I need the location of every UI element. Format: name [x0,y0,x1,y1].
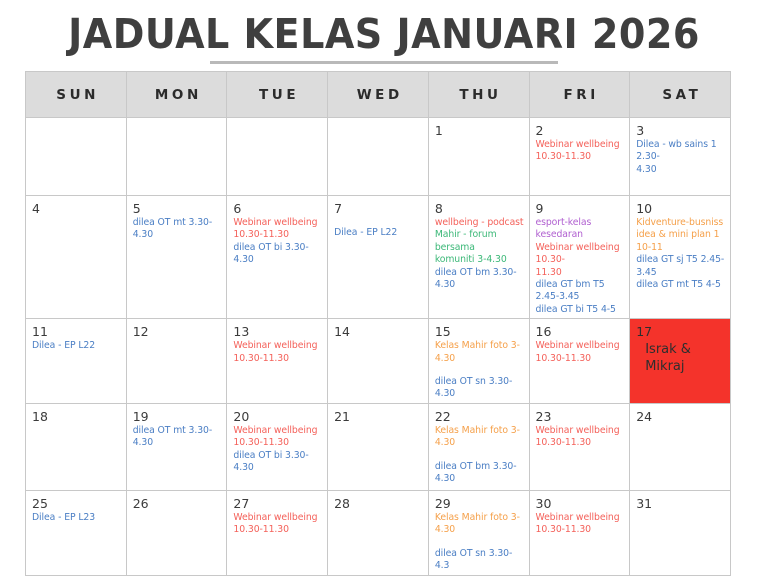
calendar-event[interactable]: dilea OT sn 3.30-4.30 [435,376,525,401]
day-cell-content: 25Dilea - EP L23 [26,491,126,575]
calendar-table: SUNMONTUEWEDTHUFRISAT 12Webinar wellbein… [25,71,731,576]
calendar-day-cell-20[interactable]: 20Webinar wellbeing 10.30-11.30dilea OT … [227,403,328,490]
day-cell-content: 19dilea OT mt 3.30-4.30 [127,404,227,490]
calendar-event[interactable]: dilea OT mt 3.30-4.30 [133,425,223,450]
weekday-header-wed: WED [328,72,429,118]
calendar-day-cell-3[interactable]: 3Dilea - wb sains 1 2.30- 4.30 [630,118,731,196]
calendar-week-row: 12Webinar wellbeing 10.30-11.303Dilea - … [26,118,731,196]
calendar-event[interactable]: Kelas Mahir foto 3-4.30 [435,425,525,450]
day-number: 12 [133,324,223,339]
day-cell-content [328,118,428,195]
calendar-day-cell-24[interactable]: 24 [630,403,731,490]
day-number: 28 [334,496,424,511]
day-cell-content [26,118,126,195]
weekday-label: MON [127,87,227,103]
day-number: 11 [32,324,122,339]
day-number: 3 [636,123,726,138]
day-cell-content: 30Webinar wellbeing 10.30-11.30 [530,491,630,575]
calendar-event[interactable]: Webinar wellbeing 10.30-11.30 [536,340,626,365]
day-events: Kelas Mahir foto 3-4.30dilea OT sn 3.30-… [435,512,525,573]
calendar-day-cell-10[interactable]: 10Kidventure-busniss idea & mini plan 1 … [630,196,731,319]
day-number: 23 [536,409,626,424]
day-number: 8 [435,201,525,216]
calendar-event[interactable]: Kidventure-busniss idea & mini plan 1 10… [636,217,726,254]
day-cell-content: 3Dilea - wb sains 1 2.30- 4.30 [630,118,730,195]
day-number: 7 [334,201,424,216]
day-cell-content: 6Webinar wellbeing 10.30-11.30dilea OT b… [227,196,327,318]
weekday-label: FRI [530,87,630,103]
calendar-day-cell-empty [126,118,227,196]
calendar-week-row: 45dilea OT mt 3.30-4.306Webinar wellbein… [26,196,731,319]
calendar-day-cell-16[interactable]: 16Webinar wellbeing 10.30-11.30 [529,319,630,404]
day-events: Dilea - EP L22 [32,340,122,352]
day-number: 29 [435,496,525,511]
day-cell-content: 22Kelas Mahir foto 3-4.30dilea OT bm 3.3… [429,404,529,490]
day-cell-content: 8wellbeing - podcastMahir - forum bersam… [429,196,529,318]
calendar-event[interactable]: Kelas Mahir foto 3-4.30 [435,512,525,537]
day-events: dilea OT mt 3.30-4.30 [133,425,223,450]
calendar-event[interactable]: Dilea - EP L22 [32,340,122,352]
day-events: Webinar wellbeing 10.30-11.30 [536,512,626,537]
weekday-header-sat: SAT [630,72,731,118]
day-events: esport-kelas kesedaranWebinar wellbeing … [536,217,626,316]
calendar-day-cell-11[interactable]: 11Dilea - EP L22 [26,319,127,404]
day-events: Kelas Mahir foto 3-4.30dilea OT sn 3.30-… [435,340,525,401]
calendar-event[interactable]: Webinar wellbeing 10.30-11.30 [536,139,626,164]
day-cell-content: 26 [127,491,227,575]
day-cell-content: 24 [630,404,730,490]
calendar-day-cell-29[interactable]: 29Kelas Mahir foto 3-4.30dilea OT sn 3.3… [428,490,529,575]
calendar-day-cell-empty [26,118,127,196]
calendar-day-cell-2[interactable]: 2Webinar wellbeing 10.30-11.30 [529,118,630,196]
day-events: Dilea - EP L23 [32,512,122,524]
calendar-day-cell-30[interactable]: 30Webinar wellbeing 10.30-11.30 [529,490,630,575]
calendar-day-cell-21[interactable]: 21 [328,403,429,490]
weekday-label: WED [328,87,428,103]
day-events: Webinar wellbeing 10.30-11.30 [536,139,626,164]
day-number: 31 [636,496,726,511]
calendar-day-cell-15[interactable]: 15Kelas Mahir foto 3-4.30dilea OT sn 3.3… [428,319,529,404]
calendar-day-cell-13[interactable]: 13Webinar wellbeing 10.30-11.30 [227,319,328,404]
day-number: 21 [334,409,424,424]
day-cell-content: 1 [429,118,529,195]
day-events: Dilea - EP L22 [334,227,424,239]
day-cell-content: 12 [127,319,227,403]
calendar-day-cell-31[interactable]: 31 [630,490,731,575]
calendar-event[interactable]: Dilea - wb sains 1 2.30- 4.30 [636,139,726,176]
calendar-body: 12Webinar wellbeing 10.30-11.303Dilea - … [26,118,731,576]
day-events: wellbeing - podcastMahir - forum bersama… [435,217,525,291]
calendar-day-cell-8[interactable]: 8wellbeing - podcastMahir - forum bersam… [428,196,529,319]
calendar-day-cell-7[interactable]: 7Dilea - EP L22 [328,196,429,319]
calendar-event[interactable]: dilea OT bi 3.30-4.30 [233,450,323,475]
calendar-week-row: 11Dilea - EP L221213Webinar wellbeing 10… [26,319,731,404]
day-cell-content: 15Kelas Mahir foto 3-4.30dilea OT sn 3.3… [429,319,529,403]
calendar-event[interactable]: dilea GT bi T5 4-5 [536,304,626,316]
day-number: 1 [435,123,525,138]
day-number: 24 [636,409,726,424]
day-cell-content: 11Dilea - EP L22 [26,319,126,403]
calendar-event[interactable]: dilea GT mt T5 4-5 [636,279,726,291]
day-number: 5 [133,201,223,216]
calendar-day-cell-25[interactable]: 25Dilea - EP L23 [26,490,127,575]
calendar-header-row: SUNMONTUEWEDTHUFRISAT [26,72,731,118]
calendar-week-row: 25Dilea - EP L232627Webinar wellbeing 10… [26,490,731,575]
day-number: 4 [32,201,122,216]
day-cell-content: 16Webinar wellbeing 10.30-11.30 [530,319,630,403]
weekday-label: SAT [630,87,730,103]
calendar-event[interactable]: wellbeing - podcast [435,217,525,229]
day-cell-content: 31 [630,491,730,575]
day-number: 14 [334,324,424,339]
weekday-header-row: SUNMONTUEWEDTHUFRISAT [26,72,731,118]
calendar-event[interactable]: Mahir - forum bersama komuniti 3-4.30 [435,229,525,266]
day-events: Webinar wellbeing 10.30-11.30 [233,512,323,537]
calendar-event[interactable]: dilea OT bm 3.30-4.30 [435,461,525,486]
day-events: Webinar wellbeing 10.30-11.30 [536,425,626,450]
weekday-header-tue: TUE [227,72,328,118]
calendar-page: JADUAL KELAS JANUARI 2026 SUNMONTUEWEDTH… [0,0,768,543]
calendar-day-cell-22[interactable]: 22Kelas Mahir foto 3-4.30dilea OT bm 3.3… [428,403,529,490]
day-number: 16 [536,324,626,339]
calendar-day-cell-27[interactable]: 27Webinar wellbeing 10.30-11.30 [227,490,328,575]
calendar-day-cell-9[interactable]: 9esport-kelas kesedaranWebinar wellbeing… [529,196,630,319]
day-number: 10 [636,201,726,216]
calendar-event[interactable]: dilea GT sj T5 2.45-3.45 [636,254,726,279]
calendar-day-cell-12[interactable]: 12 [126,319,227,404]
calendar-day-cell-14[interactable]: 14 [328,319,429,404]
weekday-header-mon: MON [126,72,227,118]
day-cell-content: 4 [26,196,126,318]
day-cell-content [127,118,227,195]
calendar-day-cell-4[interactable]: 4 [26,196,127,319]
calendar-day-cell-empty [227,118,328,196]
calendar-event[interactable]: Kelas Mahir foto 3-4.30 [435,340,525,365]
day-cell-content: 14 [328,319,428,403]
calendar-event[interactable]: dilea GT bm T5 2.45-3.45 [536,279,626,304]
day-number: 9 [536,201,626,216]
day-events: Webinar wellbeing 10.30-11.30dilea OT bi… [233,425,323,475]
day-events: Webinar wellbeing 10.30-11.30 [233,340,323,365]
day-number: 20 [233,409,323,424]
day-cell-content: 21 [328,404,428,490]
calendar-week-row: 1819dilea OT mt 3.30-4.3020Webinar wellb… [26,403,731,490]
day-events: Webinar wellbeing 10.30-11.30dilea OT bi… [233,217,323,267]
day-cell-content: 18 [26,404,126,490]
calendar-event[interactable]: Webinar wellbeing 10.30-11.30 [233,217,323,242]
calendar-event[interactable]: Dilea - EP L23 [32,512,122,524]
day-cell-content: 5dilea OT mt 3.30-4.30 [127,196,227,318]
calendar-event[interactable]: Webinar wellbeing 10.30-11.30 [233,340,323,365]
calendar-day-cell-28[interactable]: 28 [328,490,429,575]
calendar-day-cell-empty [328,118,429,196]
day-events: Dilea - wb sains 1 2.30- 4.30 [636,139,726,176]
calendar-day-cell-19[interactable]: 19dilea OT mt 3.30-4.30 [126,403,227,490]
day-cell-content: 2Webinar wellbeing 10.30-11.30 [530,118,630,195]
day-cell-content: 17Israk & Mikraj [630,319,730,403]
day-number: 25 [32,496,122,511]
day-number: 30 [536,496,626,511]
weekday-header-fri: FRI [529,72,630,118]
calendar-event[interactable]: Webinar wellbeing 10.30- 11.30 [536,242,626,279]
day-number: 13 [233,324,323,339]
calendar-day-cell-26[interactable]: 26 [126,490,227,575]
day-number: 26 [133,496,223,511]
calendar-event[interactable]: Dilea - EP L22 [334,227,424,239]
day-number: 18 [32,409,122,424]
weekday-header-thu: THU [428,72,529,118]
page-title: JADUAL KELAS JANUARI 2026 [27,10,741,58]
day-cell-content: 28 [328,491,428,575]
calendar-event[interactable]: esport-kelas kesedaran [536,217,626,242]
calendar-day-cell-18[interactable]: 18 [26,403,127,490]
weekday-label: TUE [227,87,327,103]
calendar-title-block: JADUAL KELAS JANUARI 2026 [0,10,768,64]
day-number: 22 [435,409,525,424]
day-cell-content: 29Kelas Mahir foto 3-4.30dilea OT sn 3.3… [429,491,529,575]
day-number: 2 [536,123,626,138]
day-number: 17 [636,324,726,339]
weekday-label: SUN [26,87,126,103]
calendar-day-cell-1[interactable]: 1 [428,118,529,196]
calendar-event[interactable]: dilea OT mt 3.30-4.30 [133,217,223,242]
calendar-day-cell-17[interactable]: 17Israk & Mikraj [630,319,731,404]
day-cell-content: 10Kidventure-busniss idea & mini plan 1 … [630,196,730,318]
holiday-label: Israk & Mikraj [636,341,726,375]
day-cell-content: 13Webinar wellbeing 10.30-11.30 [227,319,327,403]
calendar-event[interactable]: Webinar wellbeing 10.30-11.30 [536,425,626,450]
day-events: Webinar wellbeing 10.30-11.30 [536,340,626,365]
weekday-header-sun: SUN [26,72,127,118]
day-events: dilea OT mt 3.30-4.30 [133,217,223,242]
calendar-event[interactable]: dilea OT bi 3.30-4.30 [233,242,323,267]
calendar-day-cell-5[interactable]: 5dilea OT mt 3.30-4.30 [126,196,227,319]
day-number: 6 [233,201,323,216]
day-cell-content: 23Webinar wellbeing 10.30-11.30 [530,404,630,490]
day-number: 27 [233,496,323,511]
calendar-day-cell-23[interactable]: 23Webinar wellbeing 10.30-11.30 [529,403,630,490]
weekday-label: THU [429,87,529,103]
day-cell-content: 9esport-kelas kesedaranWebinar wellbeing… [530,196,630,318]
calendar-event[interactable]: dilea OT sn 3.30-4.3 [435,548,525,573]
day-events: Kidventure-busniss idea & mini plan 1 10… [636,217,726,291]
day-cell-content [227,118,327,195]
calendar-event[interactable]: Webinar wellbeing 10.30-11.30 [536,512,626,537]
calendar-event[interactable]: dilea OT bm 3.30-4.30 [435,267,525,292]
day-number: 19 [133,409,223,424]
calendar-day-cell-6[interactable]: 6Webinar wellbeing 10.30-11.30dilea OT b… [227,196,328,319]
title-underline-rule [210,61,558,64]
day-cell-content: 27Webinar wellbeing 10.30-11.30 [227,491,327,575]
calendar-event[interactable]: Webinar wellbeing 10.30-11.30 [233,512,323,537]
day-number: 15 [435,324,525,339]
day-cell-content: 20Webinar wellbeing 10.30-11.30dilea OT … [227,404,327,490]
day-cell-content: 7Dilea - EP L22 [328,196,428,318]
day-events: Kelas Mahir foto 3-4.30dilea OT bm 3.30-… [435,425,525,486]
calendar-event[interactable]: Webinar wellbeing 10.30-11.30 [233,425,323,450]
